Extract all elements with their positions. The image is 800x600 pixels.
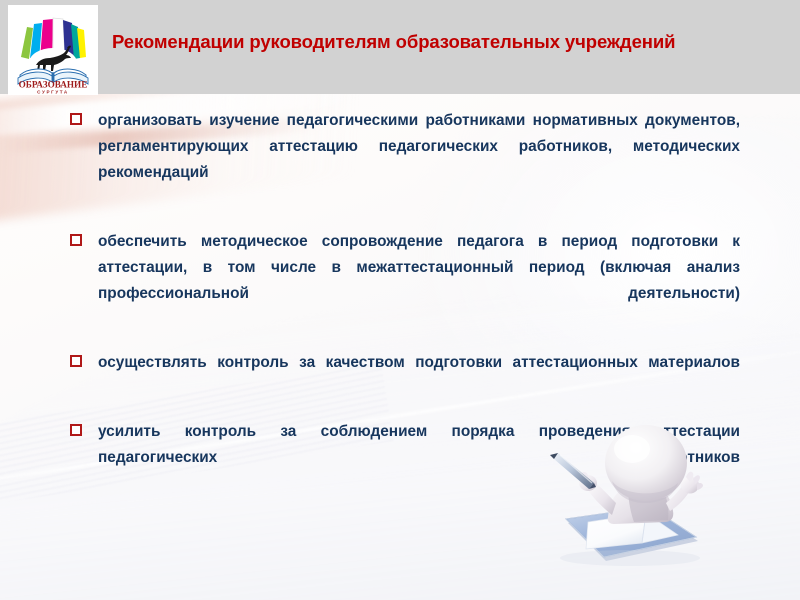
slide-canvas: Рекомендации руководителям образовательн… bbox=[0, 0, 800, 600]
3d-figure-with-pen-icon bbox=[500, 425, 800, 600]
bullet-square-icon bbox=[70, 234, 82, 246]
list-item: осуществлять контроль за качеством подго… bbox=[68, 350, 740, 402]
pen-icon bbox=[550, 453, 596, 489]
bullet-square-icon bbox=[70, 424, 82, 436]
list-item: организовать изучение педагогическими ра… bbox=[68, 108, 740, 212]
logo-main-text: ОБРАЗОВАНИЕ bbox=[19, 80, 88, 90]
bullet-square-icon bbox=[70, 355, 82, 367]
figure-head bbox=[605, 425, 687, 503]
education-surgut-logo-icon: ОБРАЗОВАНИЕ СУРГУТА bbox=[8, 5, 98, 95]
logo-container: ОБРАЗОВАНИЕ СУРГУТА bbox=[8, 5, 98, 95]
bullet-text: обеспечить методическое сопровождение пе… bbox=[98, 229, 740, 333]
list-item: обеспечить методическое сопровождение пе… bbox=[68, 229, 740, 333]
illustration-container bbox=[500, 425, 800, 600]
bullet-text: организовать изучение педагогическими ра… bbox=[98, 108, 740, 212]
logo-sub-text: СУРГУТА bbox=[37, 90, 69, 95]
bullet-text: осуществлять контроль за качеством подго… bbox=[98, 350, 740, 402]
page-title: Рекомендации руководителям образовательн… bbox=[112, 30, 784, 54]
bullet-square-icon bbox=[70, 113, 82, 125]
